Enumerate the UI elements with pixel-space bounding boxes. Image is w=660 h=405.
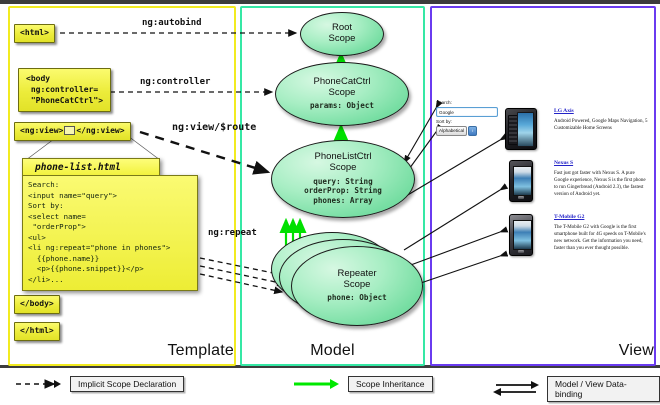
phone-thumbnail-icon bbox=[509, 160, 533, 202]
tag-ngview-open: <ng:view> bbox=[20, 126, 63, 135]
phone-info: LG Axis Android Powered, Google Maps Nav… bbox=[554, 108, 650, 132]
scope-phonecatctrl-props: params: Object bbox=[310, 101, 374, 111]
tag-ngview: <ng:view></ng:view> bbox=[14, 122, 131, 141]
label-ng-repeat: ng:repeat bbox=[208, 228, 257, 238]
view-search-form: Search: Google Sort by: Alphabetical ↕ bbox=[436, 100, 498, 136]
phone-name-link[interactable]: T-Mobile G2 bbox=[554, 214, 650, 221]
scope-phonecatctrl-title: PhoneCatCtrl Scope bbox=[313, 77, 370, 99]
phone-name-link[interactable]: Nexus S bbox=[554, 160, 650, 167]
label-ng-autobind: ng:autobind bbox=[142, 18, 202, 28]
scope-phonelistctrl-title: PhoneListCtrl Scope bbox=[314, 152, 371, 174]
green-arrow-icon bbox=[292, 378, 340, 390]
template-file-name: phone-list.html bbox=[22, 158, 160, 175]
search-input[interactable]: Google bbox=[436, 107, 498, 117]
phone-screen-detail bbox=[517, 112, 534, 147]
legend: Implicit Scope Declaration Scope Inherit… bbox=[0, 368, 660, 405]
legend-item-implicit-scope: Implicit Scope Declaration bbox=[14, 376, 184, 392]
phone-home-button-detail bbox=[518, 196, 524, 199]
chevron-updown-icon[interactable]: ↕ bbox=[468, 126, 477, 136]
tag-body-close: </body> bbox=[14, 295, 60, 314]
scope-root: Root Scope bbox=[300, 12, 384, 56]
double-arrow-icon bbox=[492, 381, 539, 397]
tag-html-open: <html> bbox=[14, 24, 55, 43]
sort-select[interactable]: Alphabetical bbox=[436, 126, 467, 136]
phone-home-button-detail bbox=[518, 250, 524, 253]
scope-repeater: Repeater Scope phone: Object bbox=[291, 246, 423, 326]
scope-repeater-title: Repeater Scope bbox=[337, 269, 376, 291]
phone-snippet: The T-Mobile G2 with Google is the first… bbox=[554, 224, 650, 252]
phone-screen-detail bbox=[513, 220, 532, 250]
legend-label-scope-inheritance: Scope Inheritance bbox=[348, 376, 433, 392]
legend-item-data-binding: Model / View Data-binding bbox=[492, 376, 660, 402]
sort-label: Sort by: bbox=[436, 119, 498, 125]
ngview-slot-icon bbox=[64, 126, 75, 135]
sort-select-wrap[interactable]: Alphabetical ↕ bbox=[436, 126, 498, 136]
phone-info: Nexus S Fast just got faster with Nexus … bbox=[554, 160, 650, 198]
dashed-arrow-icon bbox=[14, 378, 62, 390]
phone-snippet: Fast just got faster with Nexus S. A pur… bbox=[554, 170, 650, 198]
phone-info: T-Mobile G2 The T-Mobile G2 with Google … bbox=[554, 214, 650, 252]
phone-thumbnail-icon bbox=[509, 214, 533, 256]
scope-phonecatctrl: PhoneCatCtrl Scope params: Object bbox=[275, 62, 409, 126]
top-divider-bar bbox=[0, 0, 660, 4]
tag-ngview-close: </ng:view> bbox=[76, 126, 124, 135]
scope-phonelistctrl: PhoneListCtrl Scope query: String orderP… bbox=[271, 140, 415, 218]
template-file-code: Search: <input name="query"> Sort by: <s… bbox=[22, 175, 198, 291]
phone-snippet: Android Powered, Google Maps Navigation,… bbox=[554, 118, 650, 132]
tag-html-close: </html> bbox=[14, 322, 60, 341]
template-file-note: phone-list.html Search: <input name="que… bbox=[22, 158, 198, 291]
scope-repeater-props: phone: Object bbox=[327, 293, 386, 303]
label-ng-controller: ng:controller bbox=[140, 77, 210, 87]
scope-root-title: Root Scope bbox=[329, 23, 356, 45]
legend-label-data-binding: Model / View Data-binding bbox=[547, 376, 660, 402]
label-ng-view-route: ng:view/$route bbox=[172, 122, 256, 133]
phone-screen-detail bbox=[513, 166, 532, 196]
phone-name-link[interactable]: LG Axis bbox=[554, 108, 650, 115]
phone-thumbnail-icon bbox=[505, 108, 537, 150]
panel-view-label: View bbox=[432, 342, 660, 360]
legend-label-implicit-scope: Implicit Scope Declaration bbox=[70, 376, 184, 392]
tag-body-open: <body ng:controller= "PhoneCatCtrl"> bbox=[18, 68, 111, 112]
panel-model-label: Model bbox=[242, 342, 423, 360]
search-label: Search: bbox=[436, 100, 498, 106]
scope-phonelistctrl-props: query: String orderProp: String phones: … bbox=[304, 177, 382, 207]
diagram-root: Template Model View bbox=[0, 0, 660, 405]
scope-repeater-stack: Repeater Scope phone: Object bbox=[271, 232, 421, 326]
legend-item-scope-inheritance: Scope Inheritance bbox=[292, 376, 433, 392]
